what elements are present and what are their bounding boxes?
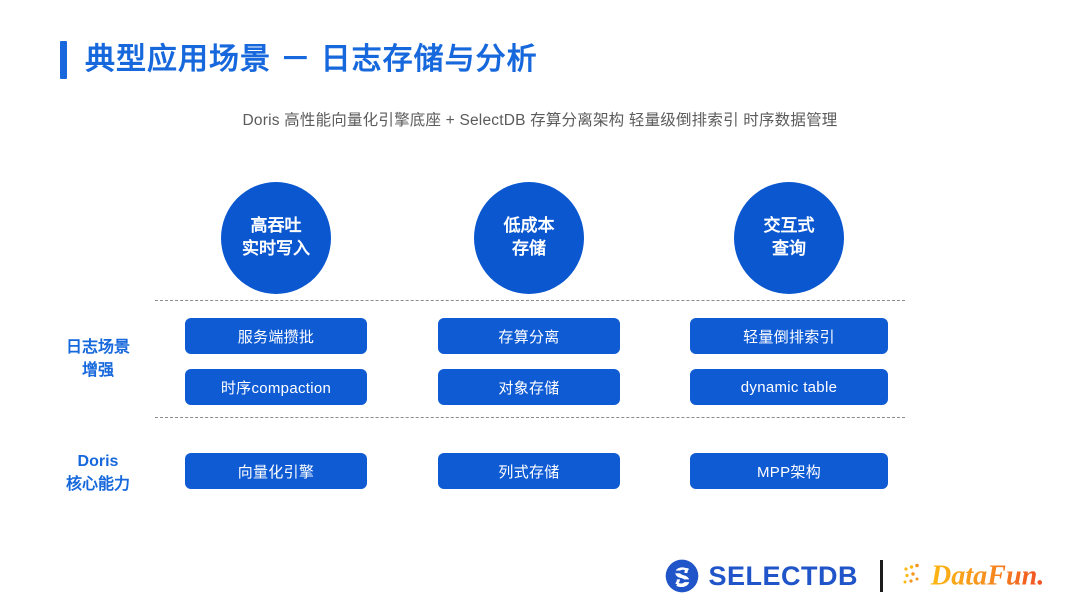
pillar-circle-line2: 存储 (512, 238, 546, 261)
feature-box: 服务端攒批 (185, 318, 367, 354)
row-label-log-scene: 日志场景 增强 (38, 336, 158, 382)
pillar-circle-high-throughput: 高吞吐 实时写入 (221, 182, 331, 294)
feature-box: 对象存储 (438, 369, 620, 405)
page-subtitle: Doris 高性能向量化引擎底座 + SelectDB 存算分离架构 轻量级倒排… (0, 108, 1080, 130)
logo-divider (880, 560, 883, 592)
pillar-circle-line1: 高吞吐 (251, 215, 302, 238)
divider-middle (155, 417, 905, 418)
selectdb-mark-icon (665, 559, 699, 593)
title-accent-bar (60, 41, 67, 79)
pillar-circle-group: 高吞吐 实时写入 低成本 存储 交互式 查询 (155, 182, 905, 294)
row-label-doris-core: Doris 核心能力 (38, 450, 158, 496)
feature-box: 轻量倒排索引 (690, 318, 888, 354)
pillar-circle-line1: 交互式 (764, 215, 815, 238)
divider-top (155, 300, 905, 301)
feature-box: dynamic table (690, 369, 888, 405)
pillar-circle-low-cost: 低成本 存储 (474, 182, 584, 294)
row-label-line2: 增强 (38, 359, 158, 382)
feature-box: MPP架构 (690, 453, 888, 489)
selectdb-wordmark: SELECTDB (708, 563, 858, 590)
pillar-circle-line2: 实时写入 (242, 238, 310, 261)
datafun-dots-icon (903, 562, 929, 590)
selectdb-logo: SELECTDB (665, 559, 858, 593)
pillar-circle-interactive-query: 交互式 查询 (734, 182, 844, 294)
row-label-line2: 核心能力 (38, 473, 158, 496)
datafun-wordmark-icon: DataFun. (930, 559, 1058, 593)
footer-logos: SELECTDB DataFun. (665, 553, 1058, 599)
page-title: 典型应用场景 － 日志存储与分析 (60, 38, 538, 82)
pillar-circle-line1: 低成本 (504, 215, 555, 238)
feature-box: 列式存储 (438, 453, 620, 489)
pillar-circle-line2: 查询 (772, 238, 806, 261)
row-label-line1: Doris (38, 450, 158, 473)
row-label-line1: 日志场景 (38, 336, 158, 359)
feature-box: 向量化引擎 (185, 453, 367, 489)
feature-box: 时序compaction (185, 369, 367, 405)
page-title-text: 典型应用场景 － 日志存储与分析 (85, 45, 538, 75)
feature-box: 存算分离 (438, 318, 620, 354)
svg-text:DataFun.: DataFun. (930, 560, 1044, 591)
datafun-logo: DataFun. (903, 559, 1058, 593)
